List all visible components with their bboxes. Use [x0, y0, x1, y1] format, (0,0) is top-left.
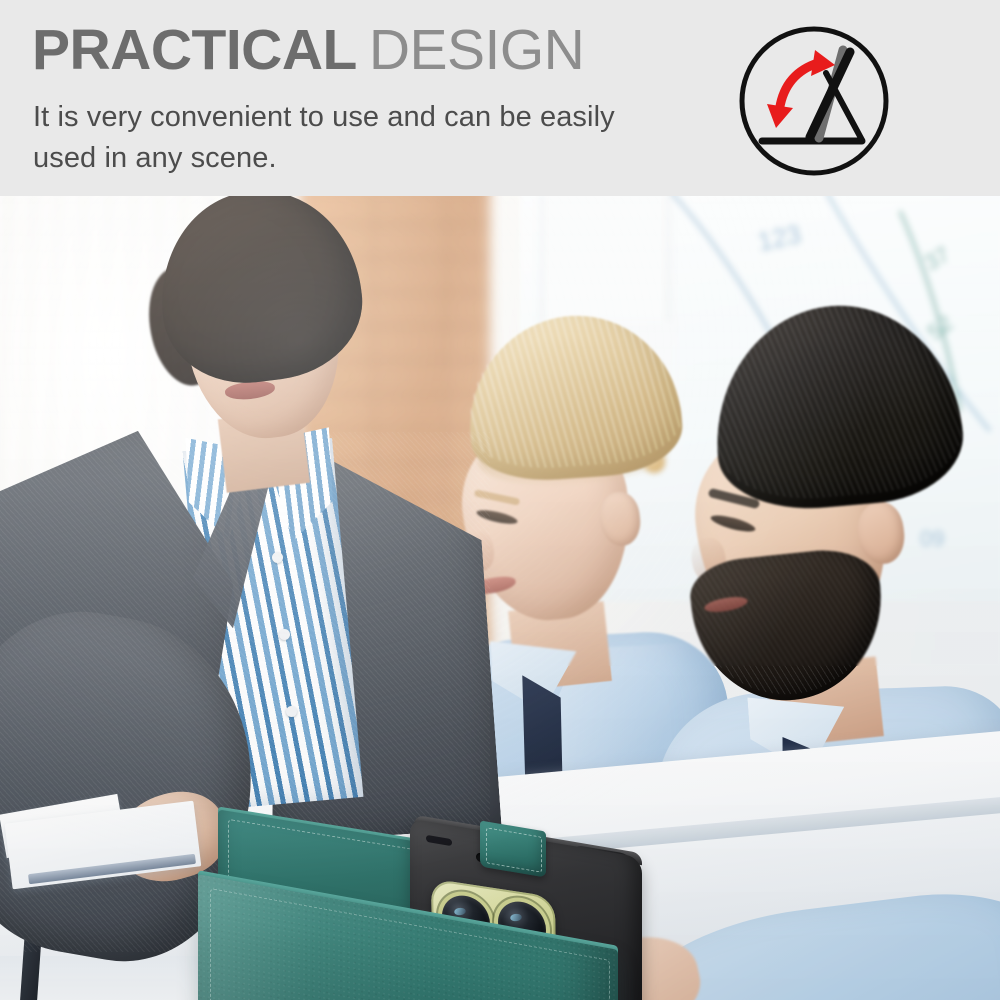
lifestyle-photo: 123 37 52 018 09	[0, 196, 1000, 1000]
woman-presenter	[0, 196, 470, 886]
product-feature-banner: PRACTICALDESIGN It is very convenient to…	[0, 0, 1000, 1000]
page-subtitle: It is very convenient to use and can be …	[33, 97, 633, 179]
page-title-strong: PRACTICAL	[32, 18, 357, 82]
wall-paper-note	[545, 196, 665, 336]
woman-shirt-button	[272, 552, 283, 563]
page-title-light: DESIGN	[369, 18, 585, 82]
woman-shirt-button	[279, 629, 290, 640]
woman-shirt-button	[286, 706, 297, 717]
blond-man-hair-texture	[463, 309, 685, 473]
page-title: PRACTICALDESIGN	[32, 19, 584, 81]
svg-text:37: 37	[920, 241, 954, 275]
header-band: PRACTICALDESIGN It is very convenient to…	[0, 0, 1000, 196]
leather-folio-wallet-case: LEICA SUMMILUX	[180, 816, 780, 1000]
svg-text:123: 123	[755, 219, 804, 257]
adjustable-kickstand-icon	[731, 18, 897, 184]
